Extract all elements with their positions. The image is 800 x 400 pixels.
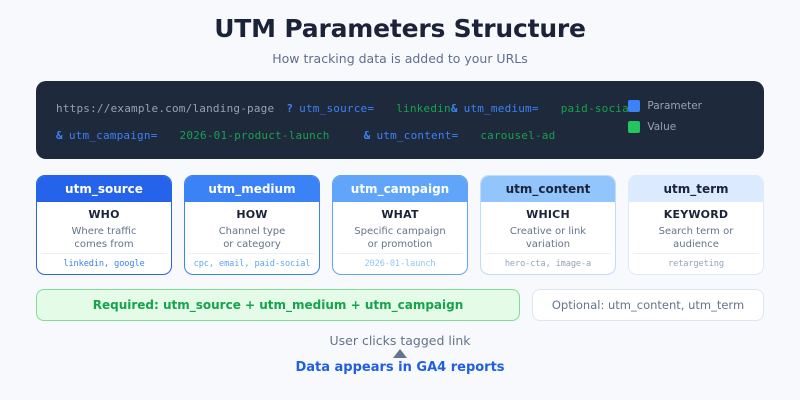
requirement-bars: Required: utm_source + utm_medium + utm_… bbox=[36, 289, 764, 321]
flow-section: User clicks tagged link Data appears in … bbox=[36, 333, 764, 375]
card-example-utm-term: retargeting bbox=[633, 253, 759, 274]
header: UTM Parameters Structure How tracking da… bbox=[36, 14, 764, 66]
card-desc-line1: Where traffic bbox=[72, 226, 137, 237]
required-params-banner: Required: utm_source + utm_medium + utm_… bbox=[36, 289, 520, 321]
card-header-utm-campaign: utm_campaign bbox=[333, 176, 467, 202]
legend: Parameter Value bbox=[628, 95, 702, 137]
url-value-utm-content: carousel-ad bbox=[480, 129, 555, 142]
card-desc-line1: Creative or link bbox=[510, 226, 586, 237]
card-body-utm-campaign: WHAT Specific campaign or promotion 2026… bbox=[333, 202, 467, 274]
card-example-utm-source: linkedin, google bbox=[41, 253, 167, 274]
flow-bottom-label: Data appears in GA4 reports bbox=[36, 360, 764, 375]
page-title: UTM Parameters Structure bbox=[36, 14, 764, 44]
card-desc-line2: audience bbox=[673, 239, 719, 250]
card-desc-line2: or promotion bbox=[368, 239, 433, 250]
url-amp-1: & bbox=[451, 102, 458, 115]
optional-params-banner: Optional: utm_content, utm_term bbox=[532, 289, 764, 321]
flow-top-label: User clicks tagged link bbox=[36, 333, 764, 348]
url-value-utm-campaign: 2026-01-product-launch bbox=[180, 129, 330, 142]
url-value-utm-medium: paid-social bbox=[561, 102, 636, 115]
card-utm-content[interactable]: utm_content WHICH Creative or link varia… bbox=[480, 175, 616, 275]
card-example-utm-content: hero-cta, image-a bbox=[485, 253, 611, 274]
infographic-root: UTM Parameters Structure How tracking da… bbox=[0, 0, 800, 400]
card-body-utm-term: KEYWORD Search term or audience retarget… bbox=[629, 202, 763, 274]
legend-label-parameter: Parameter bbox=[647, 100, 702, 112]
card-desc-utm-campaign: Specific campaign or promotion bbox=[337, 225, 463, 251]
legend-item-parameter: Parameter bbox=[628, 95, 702, 116]
url-amp-3: & bbox=[364, 129, 371, 142]
card-desc-line1: Specific campaign bbox=[354, 226, 445, 237]
card-desc-utm-term: Search term or audience bbox=[633, 225, 759, 251]
url-code-panel: https://example.com/landing-page?utm_sou… bbox=[36, 81, 764, 159]
parameter-cards: utm_source WHO Where traffic comes from … bbox=[36, 175, 764, 275]
color-swatch-icon-parameter bbox=[628, 100, 640, 112]
card-role-utm-term: KEYWORD bbox=[633, 208, 759, 221]
url-value-utm-source: linkedin bbox=[396, 102, 451, 115]
card-desc-line1: Search term or bbox=[659, 226, 734, 237]
card-body-utm-source: WHO Where traffic comes from linkedin, g… bbox=[37, 202, 171, 274]
url-base: https://example.com/landing-page bbox=[56, 102, 274, 115]
card-header-utm-source: utm_source bbox=[37, 176, 171, 202]
page-subtitle: How tracking data is added to your URLs bbox=[36, 51, 764, 66]
legend-label-value: Value bbox=[647, 121, 676, 133]
card-header-utm-term: utm_term bbox=[629, 176, 763, 202]
card-desc-line2: comes from bbox=[74, 239, 133, 250]
card-body-utm-medium: HOW Channel type or category cpc, email,… bbox=[185, 202, 319, 274]
card-desc-utm-source: Where traffic comes from bbox=[41, 225, 167, 251]
card-utm-term[interactable]: utm_term KEYWORD Search term or audience… bbox=[628, 175, 764, 275]
card-utm-medium[interactable]: utm_medium HOW Channel type or category … bbox=[184, 175, 320, 275]
card-role-utm-content: WHICH bbox=[485, 208, 611, 221]
card-role-utm-campaign: WHAT bbox=[337, 208, 463, 221]
url-param-utm-campaign: utm_campaign= bbox=[69, 129, 158, 142]
card-header-utm-medium: utm_medium bbox=[185, 176, 319, 202]
color-swatch-icon-value bbox=[628, 121, 640, 133]
url-param-utm-medium: utm_medium= bbox=[464, 102, 539, 115]
card-desc-line2: variation bbox=[526, 239, 570, 250]
card-role-utm-medium: HOW bbox=[189, 208, 315, 221]
card-body-utm-content: WHICH Creative or link variation hero-ct… bbox=[481, 202, 615, 274]
triangle-up-icon bbox=[393, 349, 407, 358]
card-desc-utm-medium: Channel type or category bbox=[189, 225, 315, 251]
legend-item-value: Value bbox=[628, 116, 702, 137]
url-amp-2: & bbox=[56, 129, 63, 142]
card-example-utm-campaign: 2026-01-launch bbox=[337, 253, 463, 274]
url-param-utm-source: utm_source= bbox=[299, 102, 374, 115]
card-desc-utm-content: Creative or link variation bbox=[485, 225, 611, 251]
card-desc-line1: Channel type bbox=[219, 226, 286, 237]
card-header-utm-content: utm_content bbox=[481, 176, 615, 202]
card-utm-campaign[interactable]: utm_campaign WHAT Specific campaign or p… bbox=[332, 175, 468, 275]
url-question-mark: ? bbox=[286, 102, 293, 115]
card-utm-source[interactable]: utm_source WHO Where traffic comes from … bbox=[36, 175, 172, 275]
card-example-utm-medium: cpc, email, paid-social bbox=[189, 253, 315, 274]
url-param-utm-content: utm_content= bbox=[376, 129, 458, 142]
card-role-utm-source: WHO bbox=[41, 208, 167, 221]
card-desc-line2: or category bbox=[223, 239, 281, 250]
